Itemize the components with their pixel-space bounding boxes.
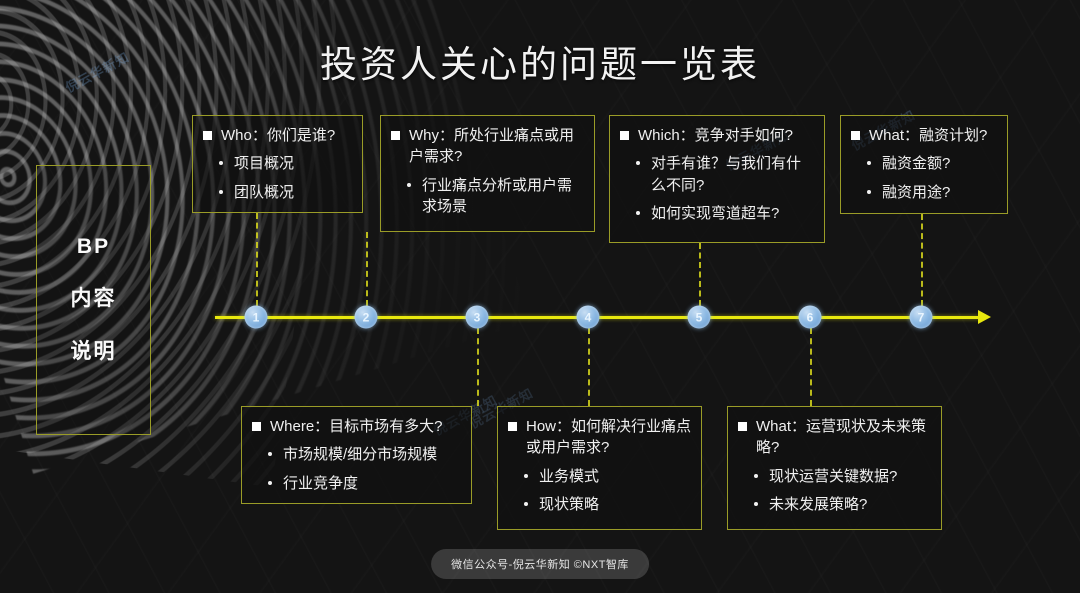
list-item: 如何实现弯道超车? (636, 203, 814, 224)
list-item: 未来发展策略? (754, 494, 931, 515)
list-item: 对手有谁？与我们有什么不同? (636, 153, 814, 196)
list-item: 团队概况 (219, 182, 352, 203)
box-header-row: Why：所处行业痛点或用户需求? (391, 125, 584, 168)
box-header-row: What：融资计划? (851, 125, 997, 146)
connector-line-4 (588, 328, 590, 406)
box-bullet-list: 项目概况 团队概况 (203, 153, 352, 203)
connector-line-2 (366, 232, 368, 306)
list-item: 行业痛点分析或用户需求场景 (407, 175, 584, 218)
content-box-why[interactable]: Why：所处行业痛点或用户需求? 行业痛点分析或用户需求场景 (380, 115, 595, 232)
square-bullet-icon (203, 131, 212, 140)
box-header-text: Why：所处行业痛点或用户需求? (409, 125, 584, 168)
square-bullet-icon (851, 131, 860, 140)
box-header-row: Where：目标市场有多大? (252, 416, 461, 437)
list-item: 项目概况 (219, 153, 352, 174)
list-item: 现状运营关键数据? (754, 466, 931, 487)
page-title: 投资人关心的问题一览表 (0, 34, 1080, 88)
square-bullet-icon (252, 422, 261, 431)
box-header-text: How：如何解决行业痛点或用户需求? (526, 416, 691, 459)
box-bullet-list: 市场规模/细分市场规模 行业竞争度 (252, 444, 461, 494)
bp-panel-line-3: 说明 (71, 335, 117, 365)
footer-badge: 微信公众号-倪云华新知 ©NXT智库 (431, 549, 649, 579)
timeline-node-2[interactable]: 2 (355, 306, 378, 329)
timeline-node-1[interactable]: 1 (245, 306, 268, 329)
bp-panel-line-1: BP (77, 235, 110, 259)
square-bullet-icon (508, 422, 517, 431)
list-item: 现状策略 (524, 494, 691, 515)
box-header-text: Which：竞争对手如何? (638, 125, 793, 146)
list-item: 行业竞争度 (268, 473, 461, 494)
box-header-text: Where：目标市场有多大? (270, 416, 443, 437)
box-header-text: What：融资计划? (869, 125, 987, 146)
content-box-how[interactable]: How：如何解决行业痛点或用户需求? 业务模式 现状策略 (497, 406, 702, 530)
box-bullet-list: 融资金额? 融资用途? (851, 153, 997, 203)
bp-panel-line-2: 内容 (71, 282, 117, 312)
list-item: 业务模式 (524, 466, 691, 487)
list-item: 融资用途? (867, 182, 997, 203)
square-bullet-icon (738, 422, 747, 431)
timeline-arrow-icon (978, 310, 991, 324)
list-item: 市场规模/细分市场规模 (268, 444, 461, 465)
connector-line-7 (921, 214, 923, 306)
timeline-node-5[interactable]: 5 (688, 306, 711, 329)
connector-line-3 (477, 328, 479, 406)
square-bullet-icon (620, 131, 629, 140)
box-header-row: How：如何解决行业痛点或用户需求? (508, 416, 691, 459)
box-header-row: What：运营现状及未来策略? (738, 416, 931, 459)
content-box-which[interactable]: Which：竞争对手如何? 对手有谁？与我们有什么不同? 如何实现弯道超车? (609, 115, 825, 243)
box-header-row: Which：竞争对手如何? (620, 125, 814, 146)
timeline-node-6[interactable]: 6 (799, 306, 822, 329)
box-header-text: Who：你们是谁? (221, 125, 335, 146)
square-bullet-icon (391, 131, 400, 140)
connector-line-6 (810, 328, 812, 406)
box-bullet-list: 现状运营关键数据? 未来发展策略? (738, 466, 931, 516)
box-header-row: Who：你们是谁? (203, 125, 352, 146)
timeline-node-3[interactable]: 3 (466, 306, 489, 329)
connector-line-5 (699, 243, 701, 306)
content-box-operations[interactable]: What：运营现状及未来策略? 现状运营关键数据? 未来发展策略? (727, 406, 942, 530)
content-box-who[interactable]: Who：你们是谁? 项目概况 团队概况 (192, 115, 363, 213)
box-bullet-list: 对手有谁？与我们有什么不同? 如何实现弯道超车? (620, 153, 814, 224)
timeline-node-7[interactable]: 7 (910, 306, 933, 329)
content-box-financing[interactable]: What：融资计划? 融资金额? 融资用途? (840, 115, 1008, 214)
box-header-text: What：运营现状及未来策略? (756, 416, 931, 459)
list-item: 融资金额? (867, 153, 997, 174)
box-bullet-list: 行业痛点分析或用户需求场景 (391, 175, 584, 218)
connector-line-1 (256, 213, 258, 306)
content-box-where[interactable]: Where：目标市场有多大? 市场规模/细分市场规模 行业竞争度 (241, 406, 472, 504)
box-bullet-list: 业务模式 现状策略 (508, 466, 691, 516)
slide-canvas: 倪云华新知 倪云华新知 倪云华新知 倪云华新知 倪云华新知 投资人关心的问题一览… (0, 0, 1080, 593)
timeline-node-4[interactable]: 4 (577, 306, 600, 329)
bp-content-panel: BP 内容 说明 (36, 165, 151, 435)
